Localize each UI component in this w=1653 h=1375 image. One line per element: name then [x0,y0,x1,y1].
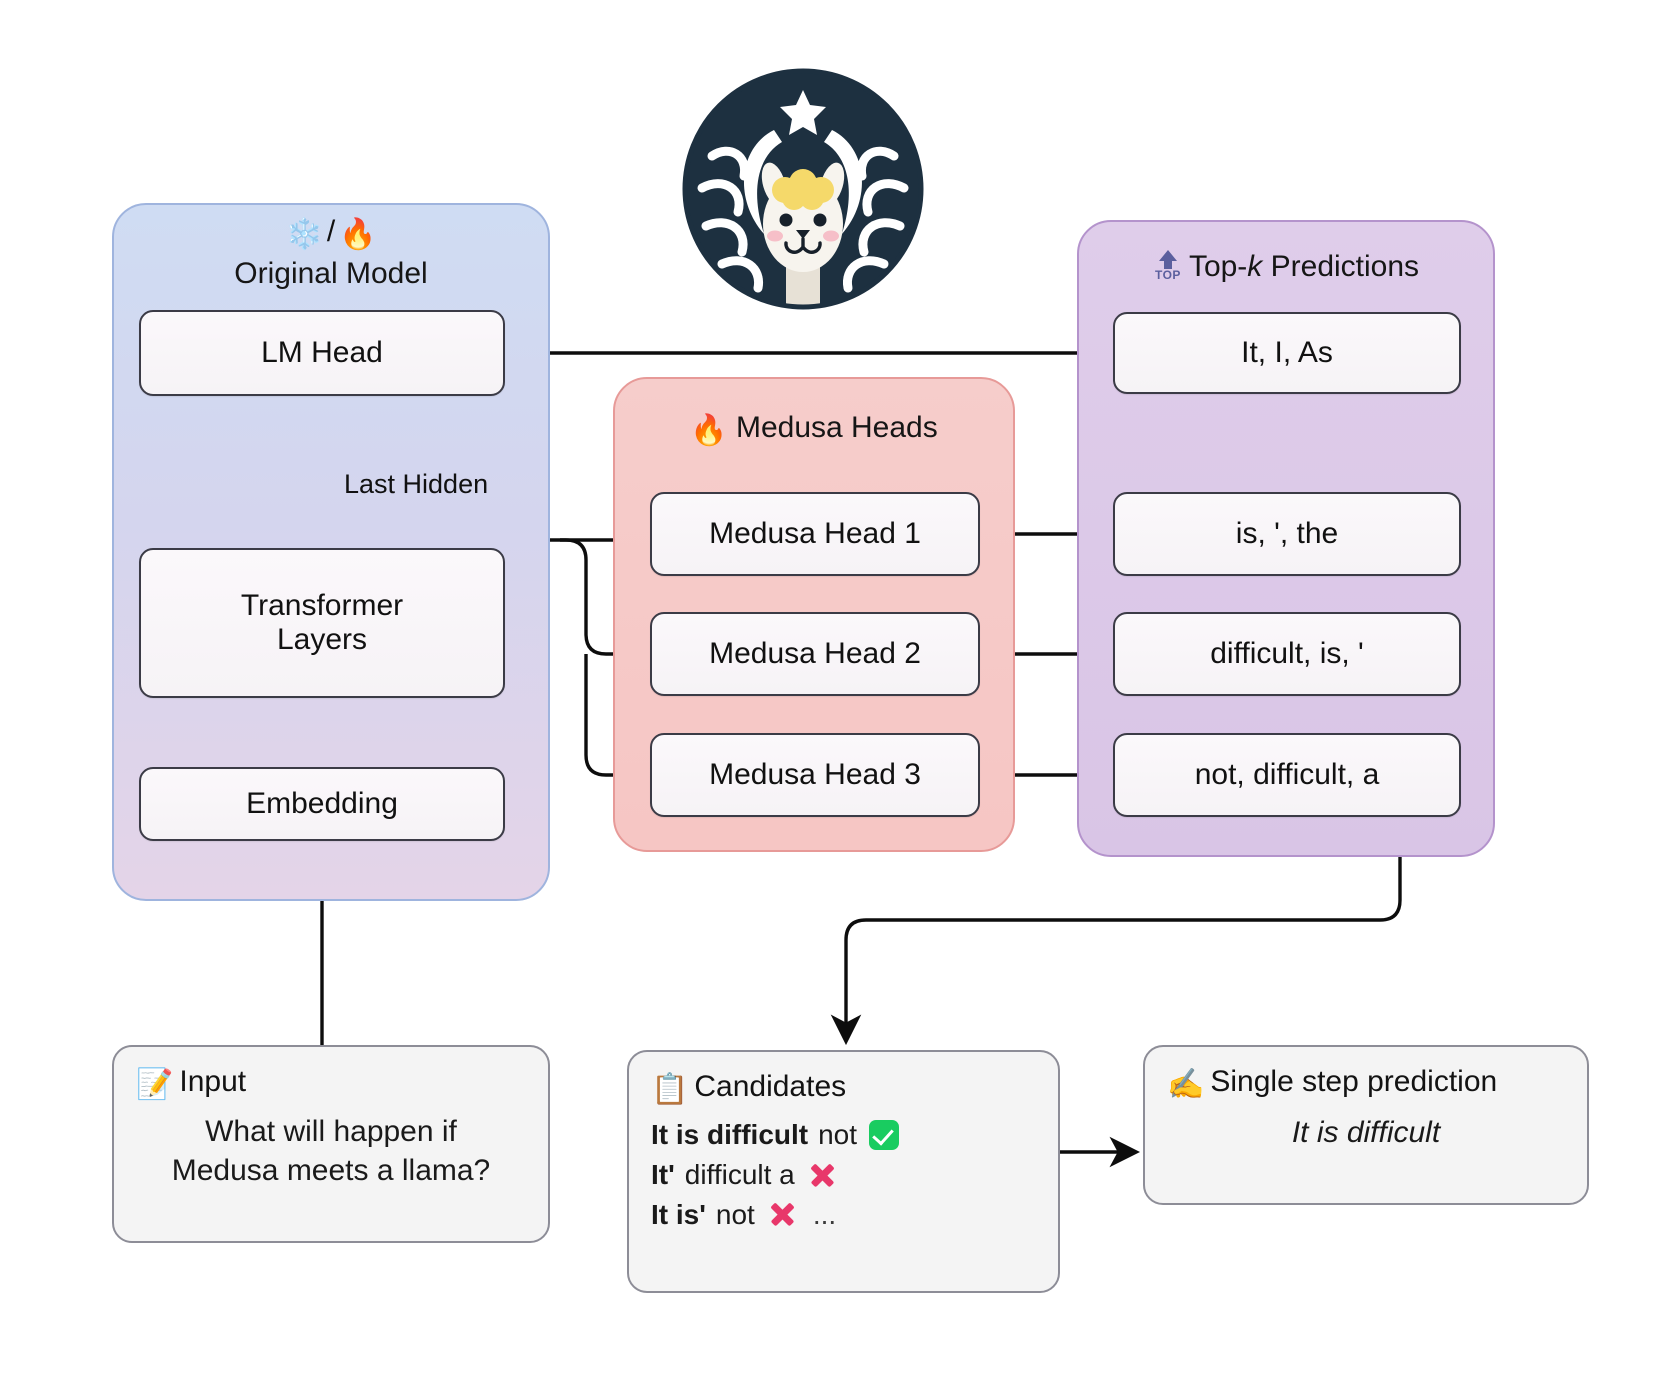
input-card-body: What will happen if Medusa meets a llama… [136,1112,526,1190]
node-embedding-label: Embedding [246,787,398,822]
candidate-row[interactable]: It is' not ... [651,1195,1036,1235]
input-card: 📝Input What will happen if Medusa meets … [112,1045,550,1243]
candidate-row[interactable]: It' difficult a [651,1155,1036,1195]
node-embedding[interactable]: Embedding [139,767,505,841]
writing-hand-icon: ✍️ [1167,1067,1204,1102]
medusa-heads-title-text: Medusa Heads [736,411,938,444]
candidate-rest: not [716,1195,755,1235]
candidate-reject-icon [807,1160,837,1190]
node-prediction-head-1-label: is, ', the [1236,517,1338,552]
top-arrow-icon: TOP [1153,250,1183,282]
edge-label-last-hidden: Last Hidden [344,469,488,500]
fire-icon: 🔥 [690,413,727,448]
candidates-list: It is difficult not It' difficult a It i… [651,1115,1036,1234]
candidate-reject-icon [767,1199,797,1229]
node-transformer-layers[interactable]: Transformer Layers [139,548,505,698]
node-prediction-lm-head-label: It, I, As [1241,336,1333,371]
medusa-llama-logo [678,64,928,314]
candidate-rest: not [818,1115,857,1155]
status-separator: / [327,215,335,248]
candidate-accepted-prefix: It is' [651,1195,706,1235]
input-text-line-1: What will happen if [136,1112,526,1151]
memo-icon: 📝 [136,1067,173,1102]
node-lm-head[interactable]: LM Head [139,310,505,396]
candidates-card: 📋Candidates It is difficult not It' diff… [627,1050,1060,1293]
top-badge-label: TOP [1153,268,1183,282]
candidate-accepted-prefix: It' [651,1155,675,1195]
node-medusa-head-1[interactable]: Medusa Head 1 [650,492,980,576]
diagram-canvas: ❄️/🔥 Original Model LM Head Transformer … [0,0,1653,1375]
single-step-prediction-title: ✍️Single step prediction [1167,1065,1565,1102]
single-step-prediction-result: It is difficult [1167,1116,1565,1150]
candidate-row[interactable]: It is difficult not [651,1115,1036,1155]
node-transformer-layers-label: Transformer Layers [241,589,403,658]
fire-icon: 🔥 [339,220,376,250]
node-medusa-head-3-label: Medusa Head 3 [709,758,921,793]
candidates-card-title: 📋Candidates [651,1070,1036,1107]
node-prediction-head-2-label: difficult, is, ' [1210,637,1364,672]
node-prediction-head-1[interactable]: is, ', the [1113,492,1461,576]
candidate-accept-icon [869,1120,899,1150]
medusa-heads-title: 🔥 Medusa Heads [615,411,1013,448]
candidate-rest: difficult a [685,1155,795,1195]
input-text-line-2: Medusa meets a llama? [136,1151,526,1190]
candidate-accepted-prefix: It is difficult [651,1115,808,1155]
snowflake-icon: ❄️ [285,220,322,250]
node-prediction-head-3-label: not, difficult, a [1195,758,1380,793]
node-prediction-head-3[interactable]: not, difficult, a [1113,733,1461,817]
original-model-title: Original Model [114,257,548,291]
input-card-title-text: Input [179,1065,246,1098]
clipboard-icon: 📋 [651,1072,688,1107]
topk-title-suffix: Predictions [1262,250,1419,283]
candidates-card-title-text: Candidates [694,1070,846,1103]
single-step-prediction-title-text: Single step prediction [1210,1065,1497,1098]
node-prediction-head-2[interactable]: difficult, is, ' [1113,612,1461,696]
single-step-prediction-card: ✍️Single step prediction It is difficult [1143,1045,1589,1205]
topk-title-prefix: Top- [1189,250,1247,283]
topk-title-k: k [1247,250,1262,283]
topk-predictions-title: TOP Top-k Predictions [1079,250,1493,284]
node-medusa-head-3[interactable]: Medusa Head 3 [650,733,980,817]
node-medusa-head-2[interactable]: Medusa Head 2 [650,612,980,696]
node-medusa-head-1-label: Medusa Head 1 [709,517,921,552]
node-medusa-head-2-label: Medusa Head 2 [709,637,921,672]
input-card-title: 📝Input [136,1065,526,1102]
node-prediction-lm-head[interactable]: It, I, As [1113,312,1461,394]
candidates-more-indicator: ... [813,1195,836,1235]
node-lm-head-label: LM Head [261,336,383,371]
frozen-trainable-status: ❄️/🔥 [114,217,548,250]
